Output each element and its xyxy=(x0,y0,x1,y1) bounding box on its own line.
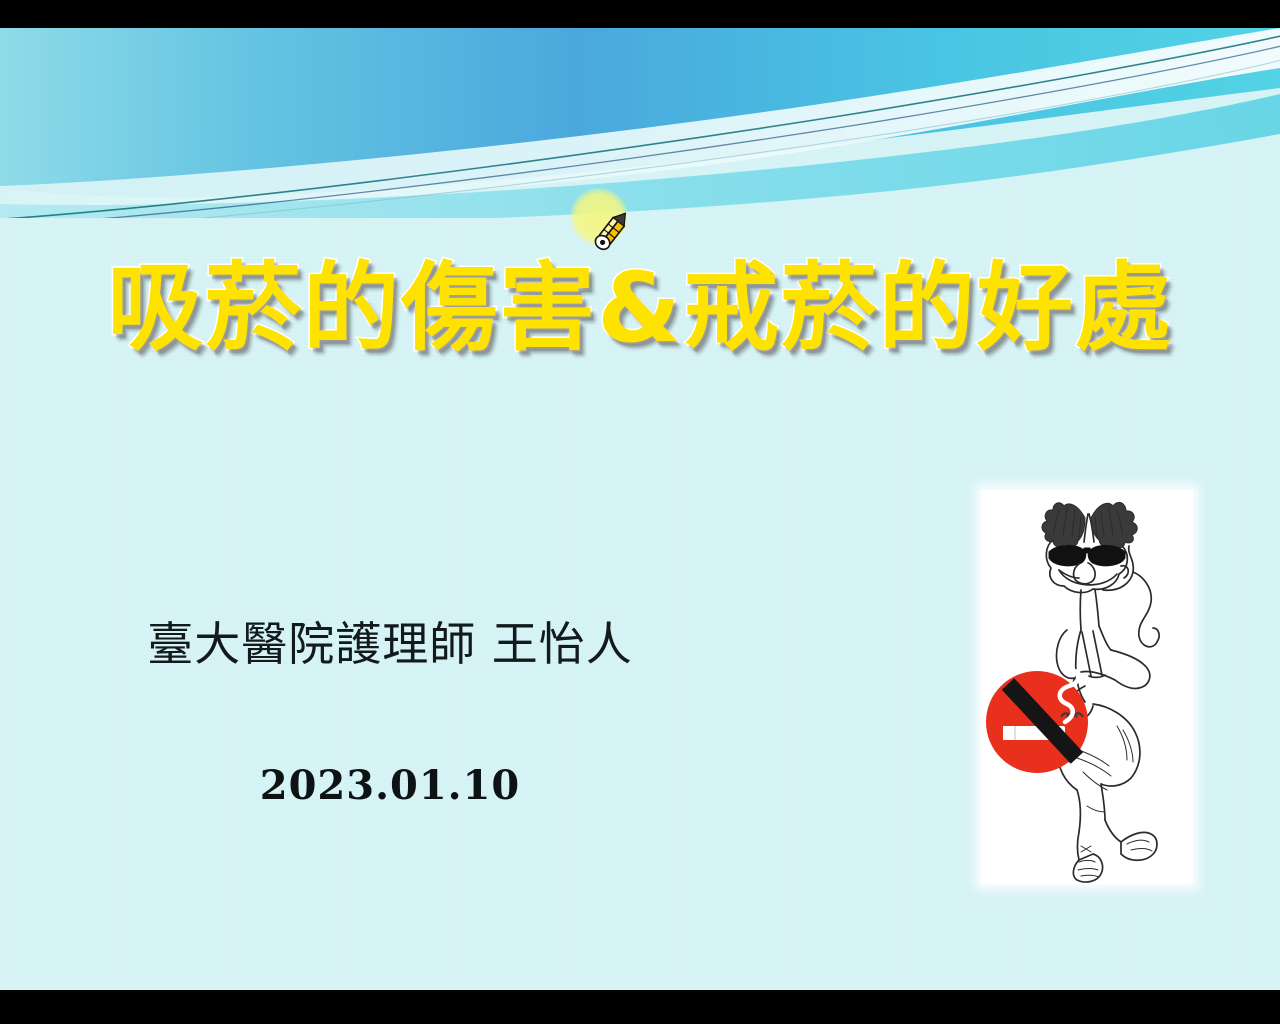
presentation-date: 2023.01.10 xyxy=(0,762,1030,809)
slide-canvas[interactable]: 吸菸的傷害&戒菸的好處 臺大醫院護理師 王怡人 2023.01.10 xyxy=(0,28,1280,990)
letterbox-bottom xyxy=(0,990,1280,1024)
pencil-icon xyxy=(586,206,638,258)
letterbox-top xyxy=(0,0,1280,28)
presentation-slideshow: 吸菸的傷害&戒菸的好處 臺大醫院護理師 王怡人 2023.01.10 xyxy=(0,0,1280,1024)
slide-title: 吸菸的傷害&戒菸的好處 xyxy=(0,256,1280,360)
presenter-line: 臺大醫院護理師 王怡人 xyxy=(0,608,1030,674)
pencil-annotation-cursor[interactable] xyxy=(570,188,644,262)
no-smoking-sign-graphic xyxy=(986,671,1088,773)
no-smoking-cartoon-image[interactable] xyxy=(981,490,1193,884)
